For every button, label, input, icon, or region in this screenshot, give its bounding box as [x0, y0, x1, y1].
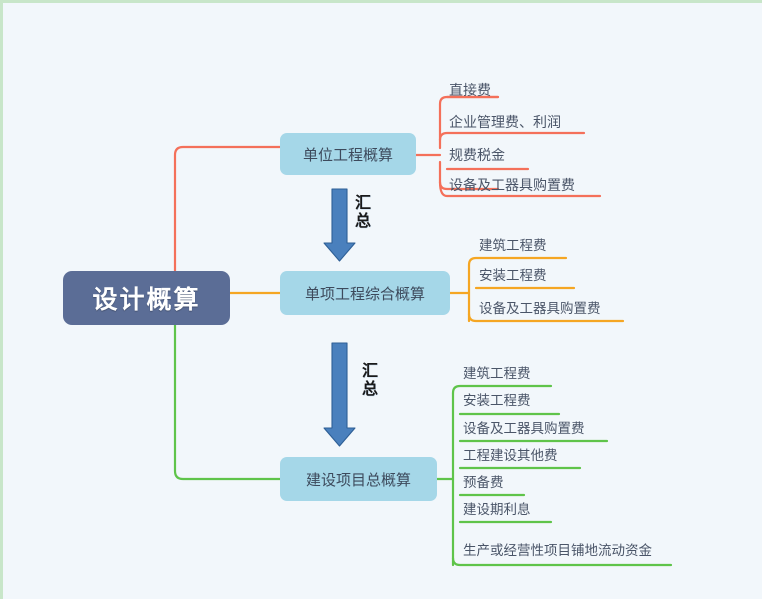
- branch-node-3[interactable]: 建设项目总概算: [280, 457, 437, 501]
- leaf-label-3-2[interactable]: 安装工程费: [463, 394, 531, 408]
- leaf-label-2-1[interactable]: 建筑工程费: [479, 239, 547, 253]
- branch-node-1[interactable]: 单位工程概算: [280, 133, 416, 175]
- leaf-label-3-7[interactable]: 生产或经营性项目铺地流动资金: [463, 544, 652, 558]
- root-node-label: 设计概算: [92, 280, 200, 316]
- leaf-label-3-1[interactable]: 建筑工程费: [463, 367, 531, 381]
- leaf-label-1-3[interactable]: 规费税金: [449, 148, 505, 162]
- branch-node-3-label: 建设项目总概算: [306, 469, 411, 490]
- leaf-label-3-3[interactable]: 设备及工器具购置费: [463, 422, 585, 436]
- summary-arrow-2: [324, 343, 355, 446]
- branch-node-2-label: 单项工程综合概算: [305, 283, 425, 304]
- summary-arrow-1: [324, 189, 355, 261]
- leaf-label-2-3[interactable]: 设备及工器具购置费: [479, 302, 601, 316]
- branch-node-1-label: 单位工程概算: [303, 144, 393, 165]
- leaf-label-1-1[interactable]: 直接费: [449, 83, 491, 97]
- summary-arrow-2-label: 汇总: [362, 363, 378, 400]
- leaf-underline-3-7: [453, 558, 671, 565]
- leaf-label-3-6[interactable]: 建设期利息: [463, 503, 531, 517]
- summary-arrow-1-label: 汇总: [355, 195, 371, 232]
- leaf-label-1-2[interactable]: 企业管理费、利润: [449, 115, 561, 129]
- root-node[interactable]: 设计概算: [63, 271, 230, 325]
- leaf-label-2-2[interactable]: 安装工程费: [479, 269, 547, 283]
- leaf-label-3-4[interactable]: 工程建设其他费: [463, 449, 558, 463]
- connector-root-to-branch-3: [175, 325, 280, 479]
- leaf-underline-1-2: [440, 133, 584, 140]
- leaf-underline-2-1: [469, 258, 566, 265]
- leaf-label-3-5[interactable]: 预备费: [463, 476, 504, 490]
- connector-branch-1-spine: [440, 97, 498, 189]
- branch-node-2[interactable]: 单项工程综合概算: [280, 271, 450, 315]
- leaf-underline-3-1: [453, 386, 551, 393]
- mindmap-canvas: 设计概算 单位工程概算 单项工程综合概算 建设项目总概算 直接费 企业管理费、利…: [0, 0, 762, 599]
- leaf-label-1-4[interactable]: 设备及工器具购置费: [449, 178, 575, 192]
